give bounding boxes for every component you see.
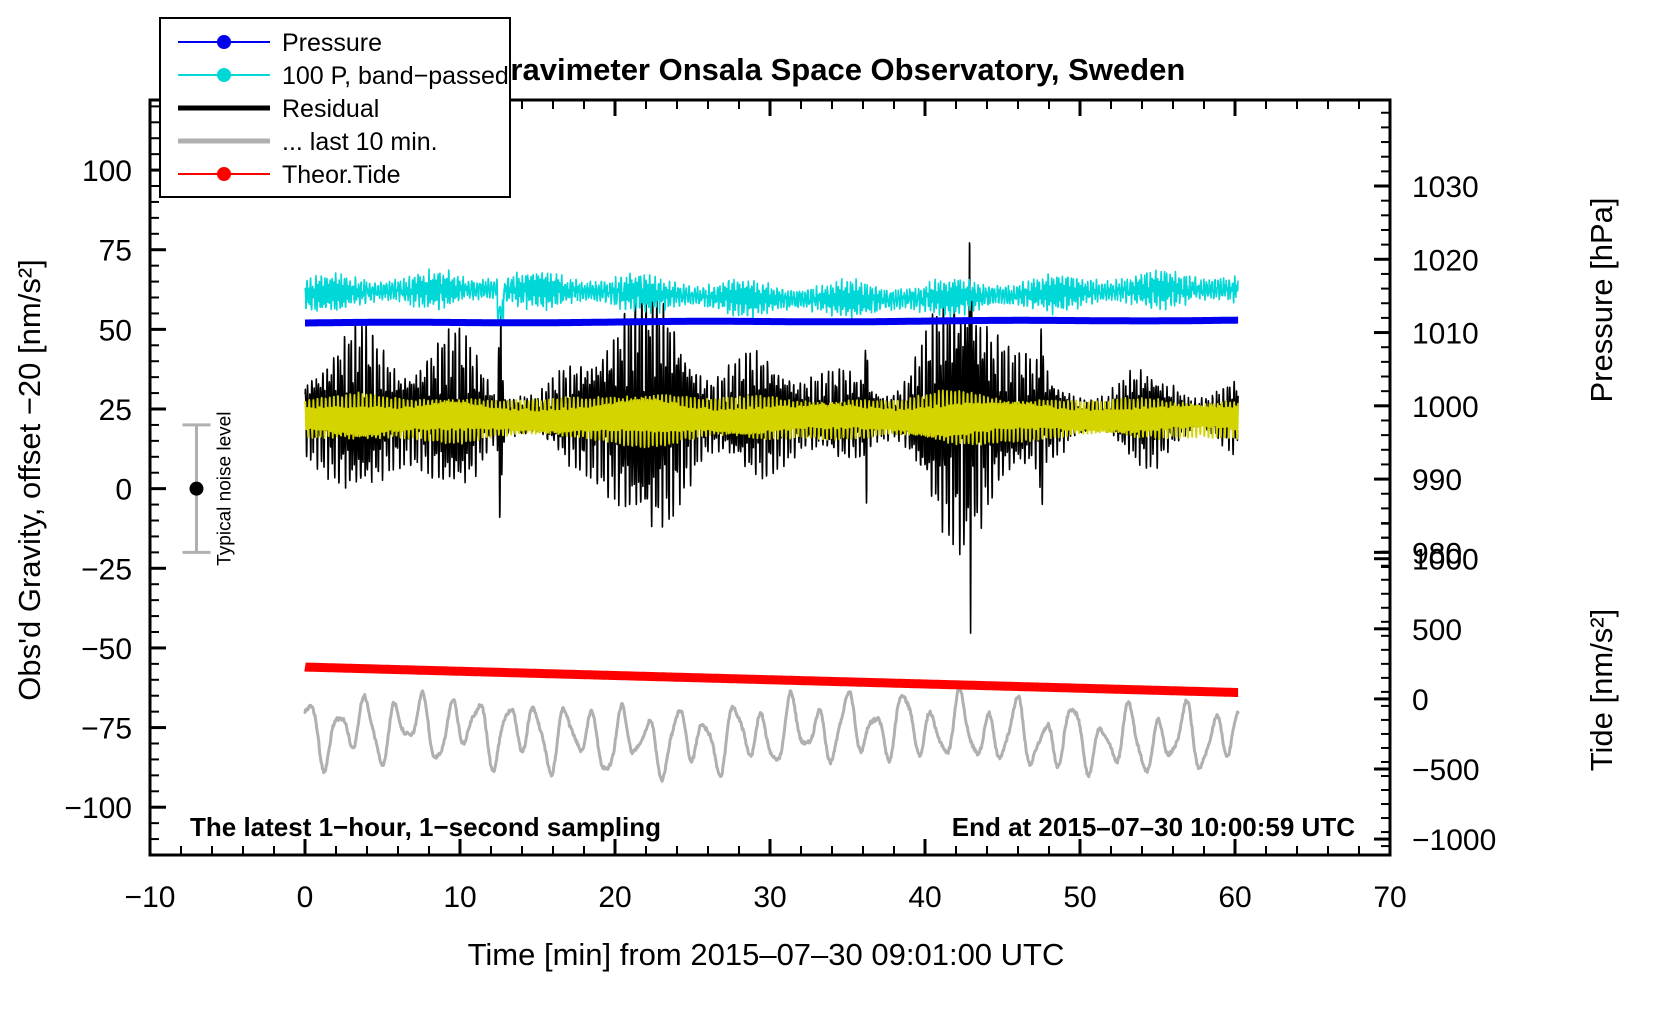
pressure-tick-label: 1000	[1412, 391, 1479, 424]
legend-swatch-marker	[217, 167, 231, 181]
pressure-tick-label: 1010	[1412, 318, 1479, 351]
y-tick-label: 0	[115, 474, 132, 507]
y-tick-label: 75	[99, 235, 132, 268]
pressure-axis-label: Pressure [hPa]	[1584, 197, 1619, 402]
y-axis-label: Obs'd Gravity, offset −20 [nm/s²]	[12, 259, 47, 701]
tide-tick-label: −1000	[1412, 824, 1496, 857]
x-tick-label: 60	[1218, 881, 1251, 914]
legend-item-label: ... last 10 min.	[282, 128, 438, 156]
tide-axis-label: Tide [nm/s²]	[1584, 609, 1619, 772]
x-tick-label: 20	[598, 881, 631, 914]
legend-item-label: Residual	[282, 95, 379, 123]
y-tick-label: 50	[99, 314, 132, 347]
pressure-tick-label: 990	[1412, 464, 1462, 497]
annotation-bottom-right: End at 2015–07–30 10:00:59 UTC	[952, 812, 1355, 842]
y-tick-label: −75	[81, 713, 132, 746]
y-tick-label: −50	[81, 633, 132, 666]
x-tick-label: 10	[443, 881, 476, 914]
noise-center-dot	[190, 482, 204, 496]
gravimeter-chart: −100102030405060701007550250−25−50−75−10…	[0, 0, 1660, 1020]
x-tick-label: 30	[753, 881, 786, 914]
legend-item-label: Pressure	[282, 29, 382, 57]
chart-page: −100102030405060701007550250−25−50−75−10…	[0, 0, 1660, 1020]
tide-tick-label: 1000	[1412, 544, 1479, 577]
tide-tick-label: −500	[1412, 754, 1480, 787]
legend: Pressure100 P, band−passedResidual... la…	[160, 18, 510, 197]
tide-tick-label: 500	[1412, 614, 1462, 647]
tide-tick-label: 0	[1412, 684, 1429, 717]
pressure-tick-label: 1020	[1412, 244, 1479, 277]
y-tick-label: 100	[82, 155, 132, 188]
noise-level-label: Typical noise level	[215, 412, 236, 566]
x-tick-label: 50	[1063, 881, 1096, 914]
x-tick-label: 70	[1373, 881, 1406, 914]
legend-item-label: 100 P, band−passed	[282, 62, 509, 90]
x-tick-label: 0	[297, 881, 314, 914]
pressure-tick-label: 1030	[1412, 171, 1479, 204]
annotation-bottom-left: The latest 1−hour, 1−second sampling	[190, 812, 661, 842]
trace-pressure	[305, 320, 1238, 323]
y-tick-label: −25	[81, 553, 132, 586]
y-tick-label: −100	[64, 792, 132, 825]
y-tick-label: 25	[99, 394, 132, 427]
legend-item-label: Theor.Tide	[282, 161, 401, 189]
x-axis-label: Time [min] from 2015–07–30 09:01:00 UTC	[468, 937, 1065, 972]
legend-swatch-marker	[217, 35, 231, 49]
legend-swatch-marker	[217, 68, 231, 82]
x-tick-label: 40	[908, 881, 941, 914]
x-tick-label: −10	[125, 881, 176, 914]
